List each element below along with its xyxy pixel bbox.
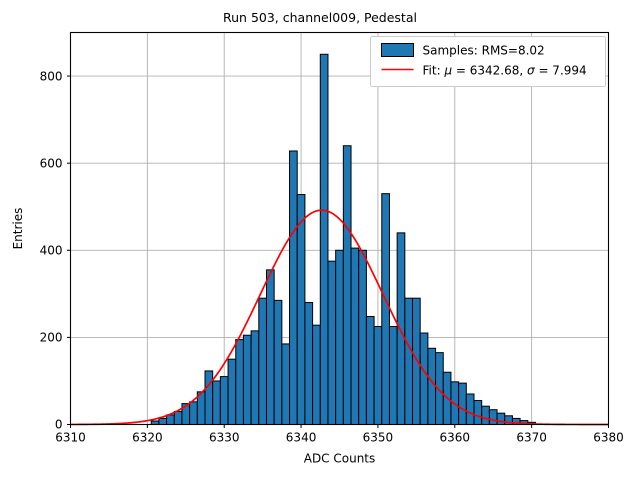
- y-tick-label: 600: [40, 156, 63, 170]
- histogram-bar: [459, 383, 467, 424]
- x-tick-label: 6310: [55, 431, 86, 445]
- histogram-bar: [259, 298, 267, 424]
- histogram-bar: [343, 146, 351, 425]
- x-tick-label: 6320: [132, 431, 163, 445]
- histogram-bar: [167, 415, 175, 425]
- histogram-bar: [205, 371, 213, 425]
- histogram-bar: [382, 194, 390, 425]
- x-tick-label: 6380: [593, 431, 624, 445]
- histogram-bar: [174, 411, 182, 424]
- histogram-bar: [220, 377, 228, 425]
- histogram-bar: [374, 327, 382, 425]
- histogram-bar: [290, 151, 298, 425]
- histogram-bar: [313, 325, 321, 424]
- histogram-bar: [359, 250, 367, 424]
- histogram-bar: [428, 348, 436, 424]
- y-tick-label: 800: [40, 69, 63, 83]
- y-tick-label: 200: [40, 331, 63, 345]
- histogram-bar: [266, 270, 274, 425]
- histogram-bars: [151, 54, 535, 424]
- histogram-bar: [405, 298, 413, 424]
- histogram-bar: [474, 401, 482, 425]
- histogram-bar: [497, 413, 505, 424]
- histogram-bar: [282, 344, 290, 425]
- histogram-bar: [366, 316, 374, 424]
- histogram-bar: [190, 402, 198, 425]
- histogram-bar: [243, 335, 251, 424]
- histogram-bar: [236, 340, 244, 425]
- histogram-bar: [320, 54, 328, 424]
- histogram-bar: [397, 233, 405, 425]
- histogram-bar: [159, 418, 167, 424]
- figure-canvas: Run 503, channel009, Pedestal 6310632063…: [0, 0, 640, 480]
- histogram-bar: [328, 261, 336, 424]
- histogram-bar: [297, 195, 305, 425]
- histogram-bar: [228, 359, 236, 424]
- histogram-bar: [336, 250, 344, 424]
- x-tick-label: 6330: [209, 431, 240, 445]
- histogram-bar: [274, 300, 282, 424]
- y-axis-label: Entries: [11, 208, 25, 250]
- histogram-bar: [413, 298, 421, 424]
- x-tick-label: 6370: [516, 431, 547, 445]
- histogram-bar: [466, 394, 474, 424]
- histogram-bar: [351, 248, 359, 424]
- histogram-bar: [482, 406, 490, 424]
- histogram-chart: 6310632063306340635063606370638002004006…: [0, 0, 640, 480]
- legend-swatch-samples: [382, 44, 414, 57]
- x-tick-label: 6350: [363, 431, 394, 445]
- y-tick-label: 0: [55, 418, 63, 432]
- histogram-bar: [251, 331, 259, 425]
- histogram-bar: [420, 333, 428, 424]
- histogram-bar: [489, 410, 497, 425]
- x-tick-label: 6360: [440, 431, 471, 445]
- histogram-bar: [389, 327, 397, 425]
- y-tick-label: 400: [40, 243, 63, 257]
- legend-label-samples: Samples: RMS=8.02: [423, 44, 545, 58]
- histogram-bar: [213, 381, 221, 425]
- x-tick-label: 6340: [286, 431, 317, 445]
- legend-label-fit: Fit: μ = 6342.68, σ = 7.994: [423, 64, 587, 78]
- legend: Samples: RMS=8.02 Fit: μ = 6342.68, σ = …: [371, 37, 606, 87]
- histogram-bar: [305, 303, 313, 425]
- x-axis-label: ADC Counts: [304, 452, 376, 466]
